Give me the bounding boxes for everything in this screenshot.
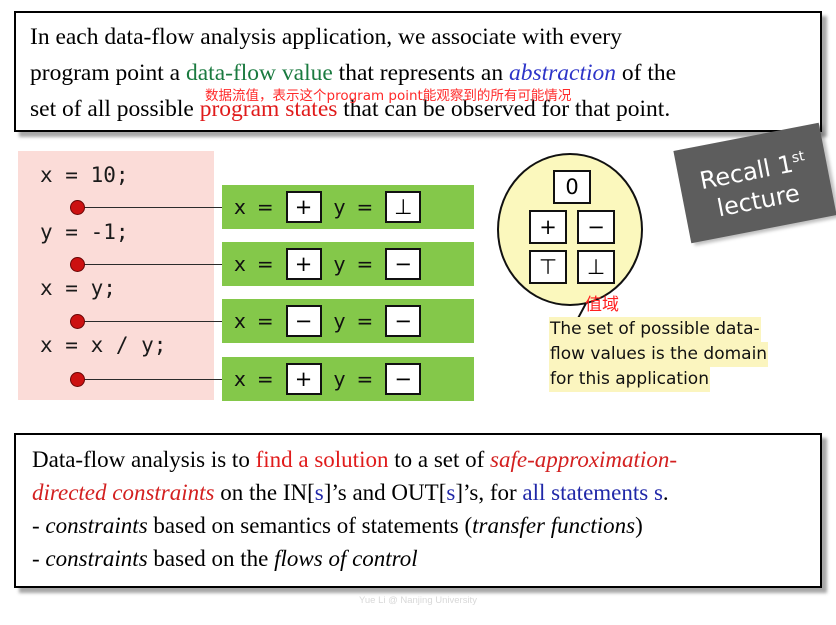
row2-var-y: y [334,254,346,274]
domain-caption-line-3: for this application [549,367,710,392]
row2-equals-1: = [257,254,274,274]
row4-var-x: x [234,369,246,389]
code-line-2: y = -1; [40,220,129,244]
row1-var-x: x [234,197,246,217]
data-flow-value-term: data-flow value [186,60,333,86]
data-flow-value-row: x = + y = − [222,357,474,401]
program-point-marker-1 [70,200,85,215]
program-point-marker-4 [70,372,85,387]
find-a-solution-term: find a solution [256,447,389,472]
code-line-4: x = x / y; [40,333,166,357]
recall-lecture-banner: Recall 1st lecture [673,123,836,244]
top-line2-text-a: program point a [30,60,186,86]
row3-equals-2: = [356,311,373,331]
bottom-box-line-1: Data-flow analysis is to find a solution… [32,443,804,476]
row2-value-y: − [385,248,421,280]
row2-value-x: + [286,248,322,280]
bottom-l4-a: - [32,546,45,571]
domain-cell-zero: 0 [553,170,591,204]
bottom-l3-a: - [32,513,45,538]
domain-cell-bottom: ⊥ [577,250,615,284]
row2-var-x: x [234,254,246,274]
row4-equals-2: = [356,369,373,389]
data-flow-value-row: x = − y = − [222,299,474,343]
code-line-1: x = 10; [40,163,129,187]
all-statements-term: all statements s [522,480,663,505]
row1-value-x: + [286,191,322,223]
bottom-l2-c: ]’s, for [455,480,522,505]
recall-banner-ordinal: st [790,148,806,166]
program-point-marker-2 [70,257,85,272]
bottom-l1-a: Data-flow analysis is to [32,447,256,472]
connector-line-2 [84,264,225,266]
bottom-l2-b: ]’s and OUT[ [324,480,447,505]
domain-caption-line-1: The set of possible data- [549,317,761,342]
domain-cell-minus: − [577,210,615,244]
transfer-functions-term: transfer functions [472,513,635,538]
top-line3-text-a: set of all possible [30,96,200,122]
bottom-l2-d: . [663,480,669,505]
slide-footer: Yue Li @ Nanjing University [0,595,836,606]
row3-value-y: − [385,305,421,337]
domain-chinese-label: 值域 [585,290,619,315]
row1-var-y: y [334,197,346,217]
code-line-3: x = y; [40,276,116,300]
connector-line-3 [84,321,225,323]
row4-value-x: + [286,363,322,395]
flows-of-control-term: flows of control [274,546,418,571]
directed-constraints-term: directed constraints [32,480,214,505]
domain-caption: The set of possible data- flow values is… [549,317,789,392]
domain-cell-plus: + [529,210,567,244]
row1-value-y: ⊥ [385,191,421,223]
bottom-box-line-3: - constraints based on semantics of stat… [32,509,804,542]
code-panel: x = 10; y = -1; x = y; x = x / y; [18,151,214,400]
bottom-l2-a: on the IN[ [214,480,314,505]
row1-equals-2: = [356,197,373,217]
bottom-l1-b: to a set of [388,447,490,472]
domain-circle: 0 + − ⊤ ⊥ [497,153,643,306]
row4-value-y: − [385,363,421,395]
out-s-index: s [446,480,455,505]
bottom-l3-b: based on semantics of statements ( [148,513,472,538]
row2-equals-2: = [356,254,373,274]
bottom-box-line-2: directed constraints on the IN[s]’s and … [32,476,804,509]
top-box-line-1: In each data-flow analysis application, … [30,19,806,55]
safe-approximation-term: safe-approximation- [490,447,677,472]
row4-equals-1: = [257,369,274,389]
bottom-l3-c: ) [635,513,643,538]
bottom-l4-b: based on the [148,546,274,571]
top-statement-box: In each data-flow analysis application, … [14,11,822,132]
row4-var-y: y [334,369,346,389]
top-line2-text-b: that represents an [333,60,509,86]
in-s-index: s [315,480,324,505]
row3-value-x: − [286,305,322,337]
program-point-marker-3 [70,314,85,329]
data-flow-value-row: x = + y = − [222,242,474,286]
top-line2-text-c: of the [616,60,676,86]
abstraction-term: abstraction [509,60,616,86]
connector-line-4 [84,379,225,381]
row3-var-x: x [234,311,246,331]
domain-cell-top: ⊤ [529,250,567,284]
data-flow-value-row: x = + y = ⊥ [222,185,474,229]
row3-equals-1: = [257,311,274,331]
row1-equals-1: = [257,197,274,217]
chinese-annotation: 数据流值，表示这个program point能观察到的所有可能情况 [205,84,571,104]
constraints-term-2: constraints [45,546,147,571]
connector-line-1 [84,207,225,209]
bottom-statement-box: Data-flow analysis is to find a solution… [14,433,822,588]
domain-caption-line-2: flow values is the domain [549,342,768,367]
top-line1-text: In each data-flow analysis application, … [30,24,622,50]
bottom-box-line-4: - constraints based on the flows of cont… [32,542,804,575]
constraints-term-1: constraints [45,513,147,538]
row3-var-y: y [334,311,346,331]
